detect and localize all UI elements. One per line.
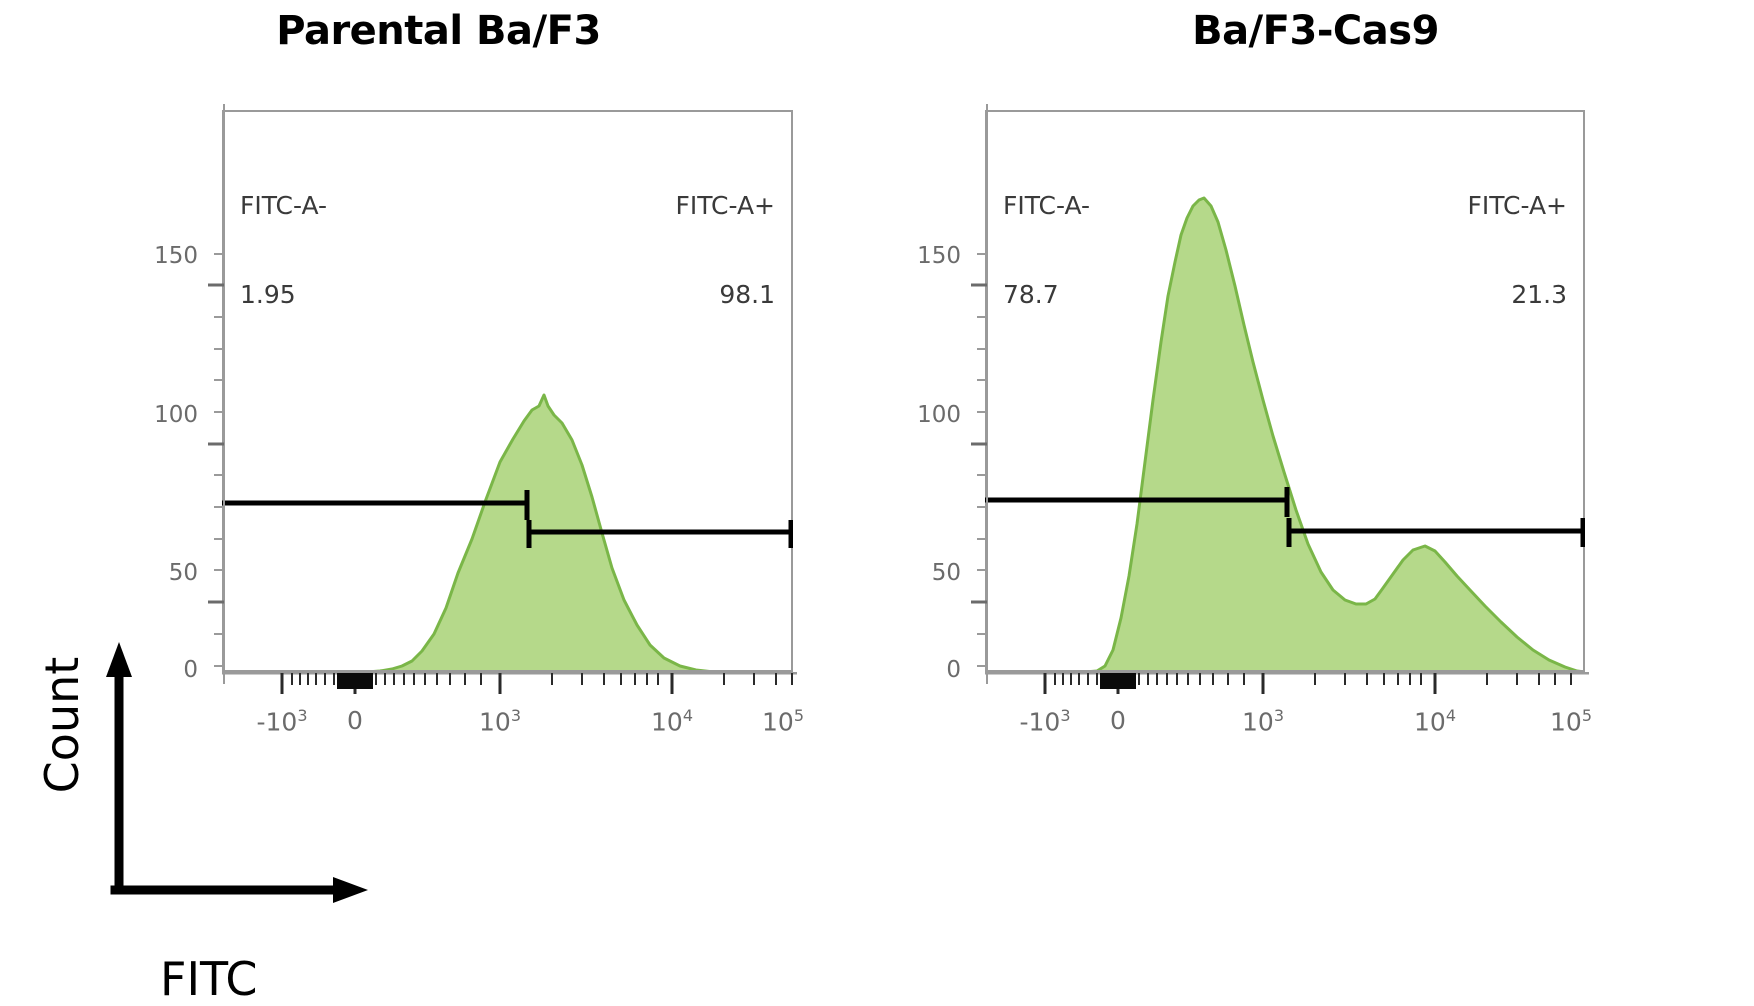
gate-positive-value: 98.1 — [675, 280, 775, 310]
y-tick-100: 100 — [128, 402, 198, 428]
x-tick-1000: 103 — [445, 706, 555, 736]
fitc-arrowhead — [333, 877, 368, 903]
x-axis-title: FITC — [160, 952, 258, 1006]
gate-label-negative: FITC-A- 1.95 — [240, 132, 327, 368]
panel-parental-baf3: Parental Ba/F3 FITC-A- 1.95 FI — [0, 0, 877, 992]
x-axis-ticks — [985, 672, 1589, 702]
gate-bar-positive — [1289, 518, 1583, 547]
y-axis-ticks — [963, 104, 989, 684]
x-tick-1000: 103 — [1208, 706, 1318, 736]
gate-negative-value: 78.7 — [1003, 280, 1090, 310]
y-tick-150: 150 — [891, 243, 961, 269]
histogram-plot-cas9: FITC-A- 78.7 FITC-A+ 21.3 — [985, 110, 1585, 672]
y-tick-100: 100 — [891, 402, 961, 428]
gate-label-positive: FITC-A+ 21.3 — [1467, 132, 1567, 368]
gate-negative-name: FITC-A- — [240, 191, 327, 221]
x-tick-0: 0 — [1063, 706, 1173, 735]
gate-negative-value: 1.95 — [240, 280, 327, 310]
gate-label-positive: FITC-A+ 98.1 — [675, 132, 775, 368]
panel-baf3-cas9: Ba/F3-Cas9 FITC-A- 78.7 FITC-A+ 21.3 — [877, 0, 1754, 992]
panel-title: Ba/F3-Cas9 — [877, 8, 1754, 54]
gate-positive-name: FITC-A+ — [675, 191, 775, 221]
count-arrowhead — [106, 642, 132, 677]
panel-title: Parental Ba/F3 — [0, 8, 877, 54]
gate-positive-value: 21.3 — [1467, 280, 1567, 310]
gate-label-negative: FITC-A- 78.7 — [1003, 132, 1090, 368]
y-axis-title: Count — [35, 615, 89, 835]
gate-positive-name: FITC-A+ — [1467, 191, 1567, 221]
x-tick-100000: 105 — [1516, 706, 1626, 736]
x-tick-10000: 104 — [617, 706, 727, 736]
x-tick-100000: 105 — [728, 706, 838, 736]
y-tick-50: 50 — [891, 560, 961, 586]
axis-annotation: Count FITC — [0, 560, 400, 992]
y-tick-150: 150 — [128, 243, 198, 269]
x-tick-10000: 104 — [1380, 706, 1490, 736]
y-tick-0: 0 — [891, 657, 961, 683]
gate-negative-name: FITC-A- — [1003, 191, 1090, 221]
